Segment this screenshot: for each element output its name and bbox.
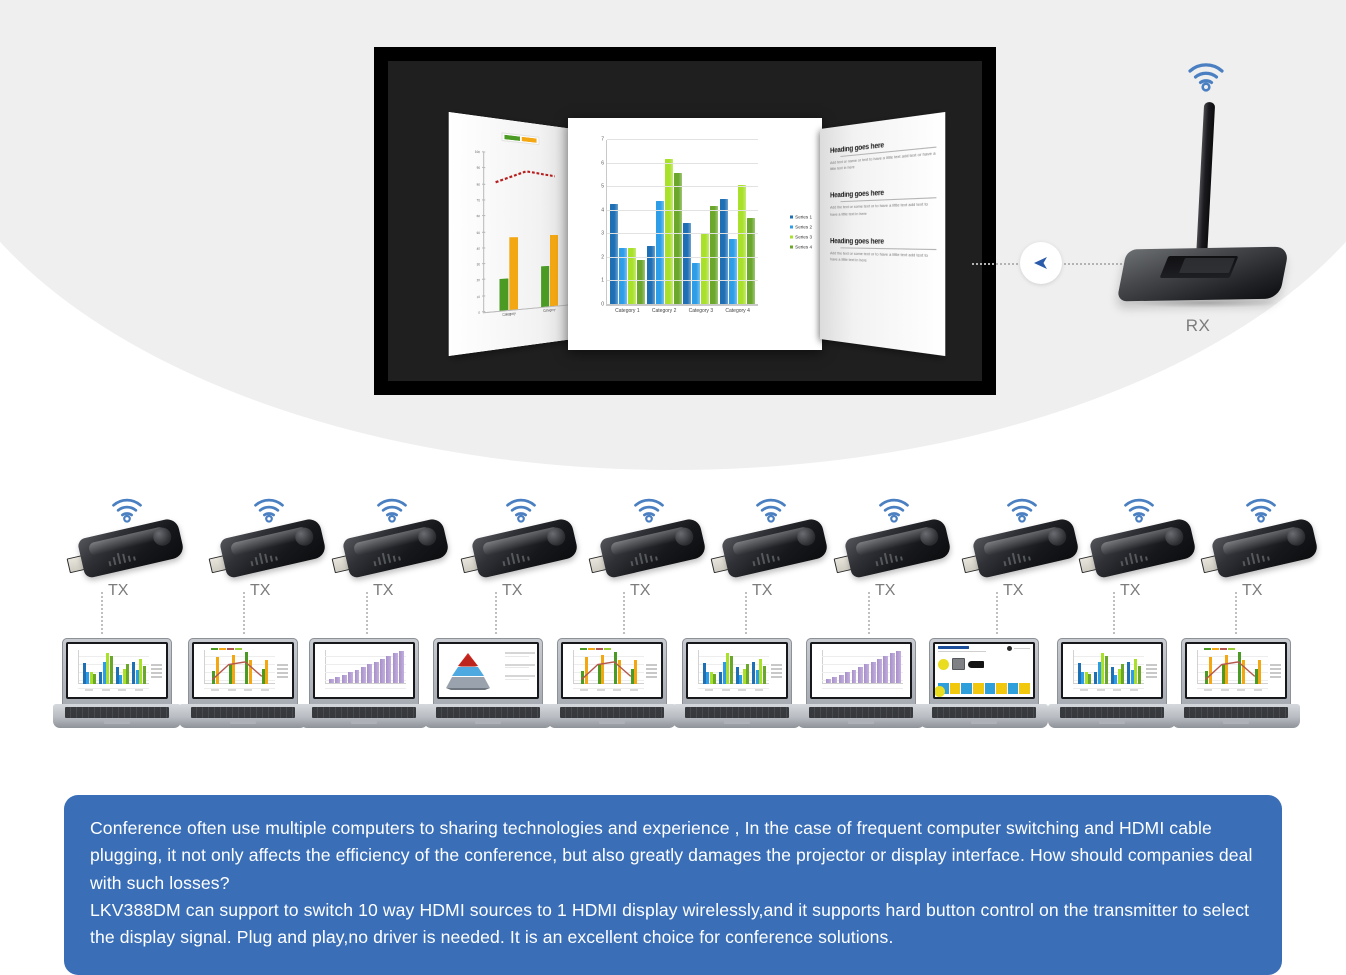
step-badge <box>934 686 945 697</box>
chart-x-tick-label <box>135 689 143 691</box>
chart-bar <box>355 670 360 684</box>
chart-x-tick-label <box>738 689 746 691</box>
chart-bar <box>637 260 645 305</box>
chart-bar <box>665 159 673 305</box>
chart-bar-groups <box>701 650 767 684</box>
tx-dongle-body <box>471 517 579 579</box>
chart-gridline: 5 <box>607 186 758 187</box>
meta-dot <box>1007 646 1012 651</box>
chart-bar <box>1088 674 1091 684</box>
chart-legend-entry: Series 2 <box>790 225 812 230</box>
laptop-base <box>920 704 1048 728</box>
legend-swatch <box>522 137 537 143</box>
tx-label: TX <box>502 582 552 600</box>
tx-label: TX <box>875 582 925 600</box>
device-graphic <box>952 658 965 670</box>
vent-slot <box>772 555 775 561</box>
infographic-row <box>938 658 984 670</box>
vent-slot <box>1120 561 1123 566</box>
chart-x-tick-label <box>85 689 93 691</box>
laptop-screen <box>437 642 539 699</box>
vent-slot <box>1262 555 1265 561</box>
chart-legend-top <box>211 648 242 650</box>
laptop-keyboard <box>312 707 416 718</box>
chart-x-tick-label: Category 4 <box>725 308 749 314</box>
tx-vents <box>249 549 278 566</box>
chart-category-group <box>99 650 113 684</box>
chart-y-tick: 70 <box>482 199 485 200</box>
legend-entry <box>151 664 162 666</box>
laptop-lid <box>557 638 667 706</box>
chart-plot-area: Category 1Category 2Category 3Category 4… <box>606 140 758 306</box>
laptop-keyboard <box>436 707 540 718</box>
laptop-trackpad <box>104 720 130 724</box>
laptop-lid <box>62 638 172 706</box>
chart-y-tick-label: 30 <box>477 262 481 267</box>
legend-entry <box>1146 676 1157 678</box>
vent-slot <box>393 555 396 561</box>
chart-x-tick-label: Category 2 <box>652 308 676 314</box>
laptop-screen <box>1185 642 1287 699</box>
tx-label: TX <box>630 582 680 600</box>
laptop <box>53 638 181 728</box>
chart-x-tick-label <box>1130 689 1138 691</box>
tx-dongle-body <box>1089 517 1197 579</box>
tx-transmitter: TX <box>462 496 587 614</box>
laptop-screen-diagram <box>439 644 537 697</box>
chart-plot-area <box>815 648 907 694</box>
vent-slot <box>1129 553 1133 564</box>
tx-vents <box>751 549 780 566</box>
laptop-screen-chart <box>68 644 166 697</box>
chart-bar <box>374 662 379 684</box>
vent-slot <box>900 556 903 560</box>
chart-y-tick-label: 60 <box>477 214 481 219</box>
laptop-lid <box>433 638 543 706</box>
laptop-screen-chart <box>812 644 910 697</box>
chart-bar <box>380 659 385 684</box>
laptop-base <box>300 704 428 728</box>
chart-bar <box>701 234 709 305</box>
diagram-label <box>505 652 535 657</box>
chart-bar <box>713 674 716 684</box>
chart-plot-area: CategoryCategory 0102030405060708090100 <box>483 152 570 313</box>
chart-x-tick-label <box>722 689 730 691</box>
chart-bar <box>730 656 733 684</box>
tx-dongle-body <box>599 517 707 579</box>
chart-bar <box>683 223 691 306</box>
vent-slot <box>382 553 386 564</box>
wifi-icon <box>375 496 409 528</box>
tx-transmitter: TX <box>210 496 335 614</box>
tx-connection-line <box>243 592 245 634</box>
chart-legend-entry: Series 4 <box>790 245 812 250</box>
chart-y-tick-label: 2 <box>601 255 604 260</box>
chart-y-tick: 30 <box>482 263 485 264</box>
timeline-cell <box>950 683 961 694</box>
vent-slot <box>1256 554 1260 563</box>
chart-legend: Series 1Series 2Series 3Series 4 <box>790 215 812 250</box>
tx-vents <box>372 549 401 566</box>
rx-receiver: RX <box>1108 60 1288 350</box>
step-badge <box>938 659 949 670</box>
chart-legend <box>277 664 288 678</box>
vent-slot <box>880 557 884 565</box>
chart-bar <box>1105 656 1108 684</box>
chart-x-tick-label <box>102 689 110 691</box>
monitor-screen: CategoryCategory 0102030405060708090100 … <box>388 61 982 381</box>
tx-connection-line <box>1235 592 1237 634</box>
chart-bar <box>399 651 404 684</box>
description-callout: Conference often use multiple computers … <box>64 795 1282 975</box>
chart-y-tick-label: 6 <box>601 161 604 166</box>
chart-bar <box>361 667 366 684</box>
pyramid-diagram <box>445 651 491 691</box>
trend-line <box>484 152 570 256</box>
chart-gridline: 7 <box>607 139 758 140</box>
laptop-trackpad <box>1099 720 1125 724</box>
vent-slot <box>1140 555 1143 561</box>
laptop-keyboard <box>809 707 913 718</box>
chart-category-group <box>83 650 97 684</box>
chart-x-tick-label <box>1080 689 1088 691</box>
chart-x-tick-label <box>1097 689 1105 691</box>
chart-y-tick-label: 100 <box>475 149 480 154</box>
vent-slot <box>761 553 765 564</box>
laptop-keyboard <box>1060 707 1164 718</box>
chart-gridline: 3 <box>607 233 758 234</box>
laptop-screen <box>810 642 912 699</box>
vent-slot <box>108 561 111 566</box>
laptop-keyboard <box>932 707 1036 718</box>
tx-transmitter: TX <box>68 496 193 614</box>
chart-y-tick-label: 3 <box>601 232 604 237</box>
legend-label: Series 1 <box>795 215 812 220</box>
slide-heading: Heading goes here <box>830 238 936 247</box>
chart-bar-groups <box>329 650 404 684</box>
legend-entry <box>646 676 657 678</box>
laptop <box>797 638 925 728</box>
vent-slot <box>275 556 278 560</box>
tx-dongle-body <box>972 517 1080 579</box>
laptop-screen <box>933 642 1035 699</box>
tx-label: TX <box>373 582 423 600</box>
chart-bar <box>890 653 895 684</box>
laptop-screen-chart <box>1063 644 1161 697</box>
link-line-left <box>972 263 1018 265</box>
legend-entry <box>277 668 288 670</box>
bar-chart-center: Category 1Category 2Category 3Category 4… <box>582 136 812 336</box>
vent-slot <box>1247 557 1251 565</box>
laptop-base <box>1048 704 1176 728</box>
chart-legend <box>151 664 162 678</box>
chart-bar <box>126 664 129 684</box>
vent-slot <box>511 553 515 564</box>
legend-swatch <box>235 648 242 650</box>
chart-y-tick-label: 0 <box>601 303 604 308</box>
laptop-lid <box>1057 638 1167 706</box>
chart-legend <box>1146 664 1157 678</box>
chart-bar <box>367 664 372 684</box>
vent-slot <box>373 561 376 566</box>
laptop <box>1048 638 1176 728</box>
tx-vents <box>1241 549 1270 566</box>
chart-x-tick-label <box>755 689 763 691</box>
callout-paragraph-1: Conference often use multiple computers … <box>90 815 1256 897</box>
meta-line <box>1014 648 1030 650</box>
vent-slot <box>133 556 136 560</box>
chart-y-tick-label: 10 <box>477 294 481 299</box>
chart-bar <box>746 664 749 684</box>
vent-slot <box>650 555 653 561</box>
timeline-cell <box>1019 683 1030 694</box>
timeline-strip <box>938 683 1030 694</box>
chart-category-group <box>132 650 146 684</box>
legend-entry <box>646 664 657 666</box>
laptop <box>1172 638 1300 728</box>
laptop-trackpad <box>971 720 997 724</box>
vent-slot <box>766 554 770 563</box>
chart-legend-entry: Series 1 <box>790 215 812 220</box>
legend-entry <box>277 664 288 666</box>
vent-slot <box>516 554 520 563</box>
slide-text-block: Heading goes hereAdd text or name or tex… <box>830 136 936 172</box>
laptop-keyboard <box>685 707 789 718</box>
slide-body-text: Add the text or some text or to have a l… <box>830 250 936 266</box>
tx-label: TX <box>1242 582 1292 600</box>
legend-entry <box>151 676 162 678</box>
chart-category-group <box>1111 650 1125 684</box>
chart-bar <box>871 662 876 684</box>
legend-entry <box>646 672 657 674</box>
trend-line <box>576 650 642 699</box>
chart-bar <box>647 246 655 305</box>
vent-slot <box>1028 556 1031 560</box>
chart-plot-area <box>197 648 289 694</box>
laptop <box>424 638 552 728</box>
chart-x-labels <box>81 689 147 691</box>
tx-label: TX <box>752 582 802 600</box>
chart-legend-top <box>580 648 611 650</box>
legend-swatch <box>790 216 793 219</box>
rx-shadow <box>1130 298 1280 308</box>
chart-y-tick-label: 20 <box>477 278 481 283</box>
vent-slot <box>1008 557 1012 565</box>
wifi-icon <box>1122 496 1156 528</box>
vent-slot <box>507 557 511 565</box>
wifi-icon <box>632 496 666 528</box>
presentation-slides: CategoryCategory 0102030405060708090100 … <box>388 61 982 381</box>
chart-bar <box>858 667 863 684</box>
chart-bar <box>1121 664 1124 684</box>
laptop <box>300 638 428 728</box>
slide-body-text: Add the text or some text or to have a l… <box>830 201 936 217</box>
legend-entry <box>771 664 782 666</box>
chart-plot-area <box>71 648 163 694</box>
legend-swatch <box>790 226 793 229</box>
chart-category-group <box>1127 650 1141 684</box>
chart-plot-area <box>1190 648 1282 694</box>
legend-swatch <box>1204 648 1211 650</box>
chart-x-axis <box>325 683 406 684</box>
tx-dongle-body <box>219 517 327 579</box>
chart-bar <box>656 201 664 305</box>
laptop <box>673 638 801 728</box>
chart-x-tick-label: Category <box>502 311 515 317</box>
chart-bar <box>93 674 96 684</box>
slide-text-block: Heading goes hereAdd the text or some te… <box>830 187 936 217</box>
chart-gridline: 2 <box>607 257 758 258</box>
chart-bar <box>500 279 509 311</box>
laptop-trackpad <box>724 720 750 724</box>
laptop-trackpad <box>848 720 874 724</box>
tx-connection-line <box>1113 592 1115 634</box>
legend-entry <box>1270 676 1281 678</box>
timeline-cell <box>973 683 984 694</box>
chart-y-tick: 20 <box>482 279 485 280</box>
legend-swatch <box>1220 648 1227 650</box>
vent-slot <box>1003 561 1006 566</box>
chart-bar <box>143 666 146 684</box>
legend-entry <box>1146 672 1157 674</box>
laptop-screen-chart <box>563 644 661 697</box>
laptop-base <box>424 704 552 728</box>
vent-slot <box>255 557 259 565</box>
chart-y-axis <box>1197 650 1198 684</box>
chart-y-axis <box>573 650 574 684</box>
chart-bar <box>692 263 700 305</box>
tx-connection-line <box>495 592 497 634</box>
chart-y-tick-label: 90 <box>477 166 481 171</box>
chart-y-tick-label: 1 <box>601 279 604 284</box>
slide-title <box>938 646 969 649</box>
chart-bar <box>883 656 888 684</box>
chart-bar <box>720 199 728 305</box>
wifi-icon <box>754 496 788 528</box>
chart-bar <box>729 239 737 305</box>
legend-entry <box>1146 668 1157 670</box>
diagram-label <box>505 664 535 669</box>
chart-category-group <box>752 650 766 684</box>
slide-center: Category 1Category 2Category 3Category 4… <box>568 118 822 350</box>
tx-label: TX <box>108 582 158 600</box>
callout-paragraph-2: LKV388DM can support to switch 10 way HD… <box>90 897 1256 952</box>
combo-chart-left: CategoryCategory 0102030405060708090100 <box>466 139 570 335</box>
laptop-lid <box>309 638 419 706</box>
laptop-screen-chart <box>1187 644 1285 697</box>
chart-y-axis <box>204 650 205 684</box>
chart-bar <box>852 670 857 684</box>
laptop-screen <box>561 642 663 699</box>
tx-transmitter: TX <box>963 496 1088 614</box>
vent-slot <box>259 553 263 564</box>
chart-category-group <box>116 650 130 684</box>
vent-slot <box>875 561 878 566</box>
tx-connection-line <box>745 592 747 634</box>
laptop-keyboard <box>191 707 295 718</box>
tx-connection-line <box>996 592 998 634</box>
chart-y-tick: 50 <box>482 231 485 232</box>
vent-slot <box>635 557 639 565</box>
signal-direction-indicator <box>1020 242 1062 284</box>
slide-subtitle <box>938 651 986 653</box>
legend-entry <box>1146 664 1157 666</box>
wifi-icon <box>504 496 538 528</box>
slide-meta <box>1007 646 1030 651</box>
laptop-row <box>0 638 1346 734</box>
chart-y-tick-label: 80 <box>477 182 481 187</box>
chart-category-group <box>1078 650 1092 684</box>
laptop-screen-chart <box>315 644 413 697</box>
diagram-label <box>505 675 535 680</box>
laptop-screen-chart <box>194 644 292 697</box>
rx-slot-highlight <box>1179 258 1235 273</box>
chart-y-tick: 0 <box>482 311 485 312</box>
transmitter-row: TXTXTXTXTXTXTXTXTXTX <box>0 496 1346 616</box>
wifi-icon <box>252 496 286 528</box>
vent-slot <box>1242 561 1245 566</box>
vent-slot <box>1267 556 1270 560</box>
chart-y-tick: 90 <box>482 167 485 168</box>
vent-slot <box>777 556 780 560</box>
chart-x-tick-label <box>1113 689 1121 691</box>
chart-y-tick-label: 0 <box>478 310 480 315</box>
chart-gridline <box>325 688 406 689</box>
chart-x-labels <box>1076 689 1142 691</box>
tx-dongle-body <box>721 517 829 579</box>
legend-entry <box>151 668 162 670</box>
tx-transmitter: TX <box>835 496 960 614</box>
vent-slot <box>250 561 253 566</box>
vent-slot <box>1251 553 1255 564</box>
legend-entry <box>1270 664 1281 666</box>
laptop-base <box>797 704 925 728</box>
trend-line <box>1200 650 1266 699</box>
tx-transmitter: TX <box>712 496 837 614</box>
legend-swatch <box>604 648 611 650</box>
laptop-trackpad <box>351 720 377 724</box>
timeline-cell <box>996 683 1007 694</box>
chart-x-tick-label <box>118 689 126 691</box>
chart-y-tick: 10 <box>482 295 485 296</box>
laptop <box>179 638 307 728</box>
divider <box>840 247 936 250</box>
vent-slot <box>122 554 126 563</box>
chart-bar <box>541 266 549 307</box>
laptop-lid <box>806 638 916 706</box>
chart-bar <box>1138 666 1141 684</box>
vent-slot <box>527 556 530 560</box>
vent-slot <box>1145 556 1148 560</box>
chart-bar <box>710 206 718 305</box>
chart-category-group <box>1094 650 1108 684</box>
wifi-icon <box>110 496 144 528</box>
laptop-base <box>548 704 676 728</box>
arrow-left-icon <box>1031 253 1051 273</box>
text-blocks: Heading goes hereAdd text or name or tex… <box>830 136 936 339</box>
vent-slot <box>889 554 893 563</box>
chart-y-tick-label: 70 <box>477 198 481 203</box>
legend-label: Series 4 <box>795 245 812 250</box>
slide-text-block: Heading goes hereAdd the text or some te… <box>830 238 936 267</box>
vent-slot <box>502 561 505 566</box>
chart-category-group <box>719 650 733 684</box>
vent-slot <box>884 553 888 564</box>
timeline-cell <box>1008 683 1019 694</box>
chart-legend <box>771 664 782 678</box>
tx-vents <box>1002 549 1031 566</box>
laptop-screen <box>313 642 415 699</box>
